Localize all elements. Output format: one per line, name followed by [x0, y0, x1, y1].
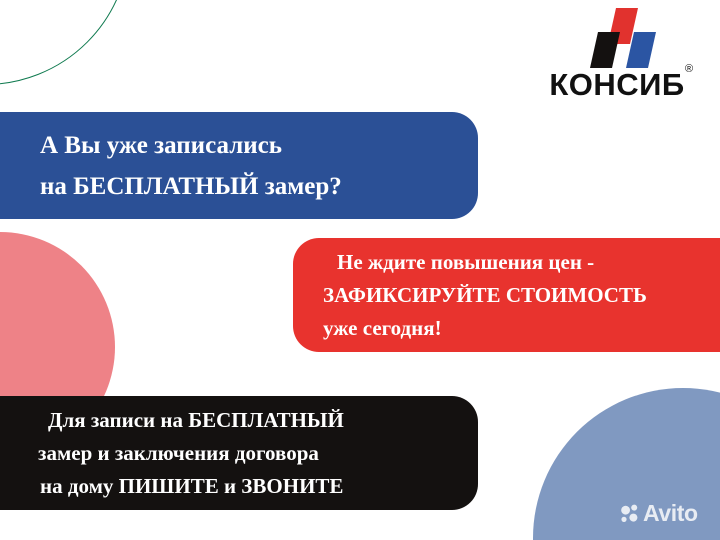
promo-banner-canvas: КОНСИБ ® А Вы уже записались на БЕСПЛАТН… [0, 0, 720, 540]
banner-free-measurement-question: А Вы уже записались на БЕСПЛАТНЫЙ замер? [0, 112, 478, 219]
banner-black-line-2: замер и заключения договора [38, 437, 478, 470]
brand-wordmark: КОНСИБ [527, 68, 707, 102]
banner-black-line-1: Для записи на БЕСПЛАТНЫЙ [38, 404, 478, 437]
banner-red-line-3: уже сегодня! [323, 312, 720, 345]
banner-red-line-2: ЗАФИКСИРУЙТЕ СТОИМОСТЬ [323, 279, 720, 312]
brand-logo: КОНСИБ ® [527, 8, 707, 108]
banner-black-line-3: на дому ПИШИТЕ и ЗВОНИТЕ [38, 470, 478, 503]
registered-trademark-icon: ® [685, 64, 693, 75]
konsib-logo-mark-icon [590, 8, 660, 68]
banner-red-line-1: Не ждите повышения цен - [323, 246, 720, 279]
green-ring-circle-icon [0, 0, 130, 85]
banner-contact-call-to-action: Для записи на БЕСПЛАТНЫЙ замер и заключе… [0, 396, 478, 510]
banner-blue-line-2: на БЕСПЛАТНЫЙ замер? [40, 166, 478, 207]
avito-watermark-text: Avito [643, 502, 698, 525]
banner-price-lock: Не ждите повышения цен - ЗАФИКСИРУЙТЕ СТ… [293, 238, 720, 352]
banner-blue-line-1: А Вы уже записались [40, 125, 478, 166]
avito-watermark: Avito [620, 500, 698, 526]
avito-dots-icon [620, 503, 640, 523]
